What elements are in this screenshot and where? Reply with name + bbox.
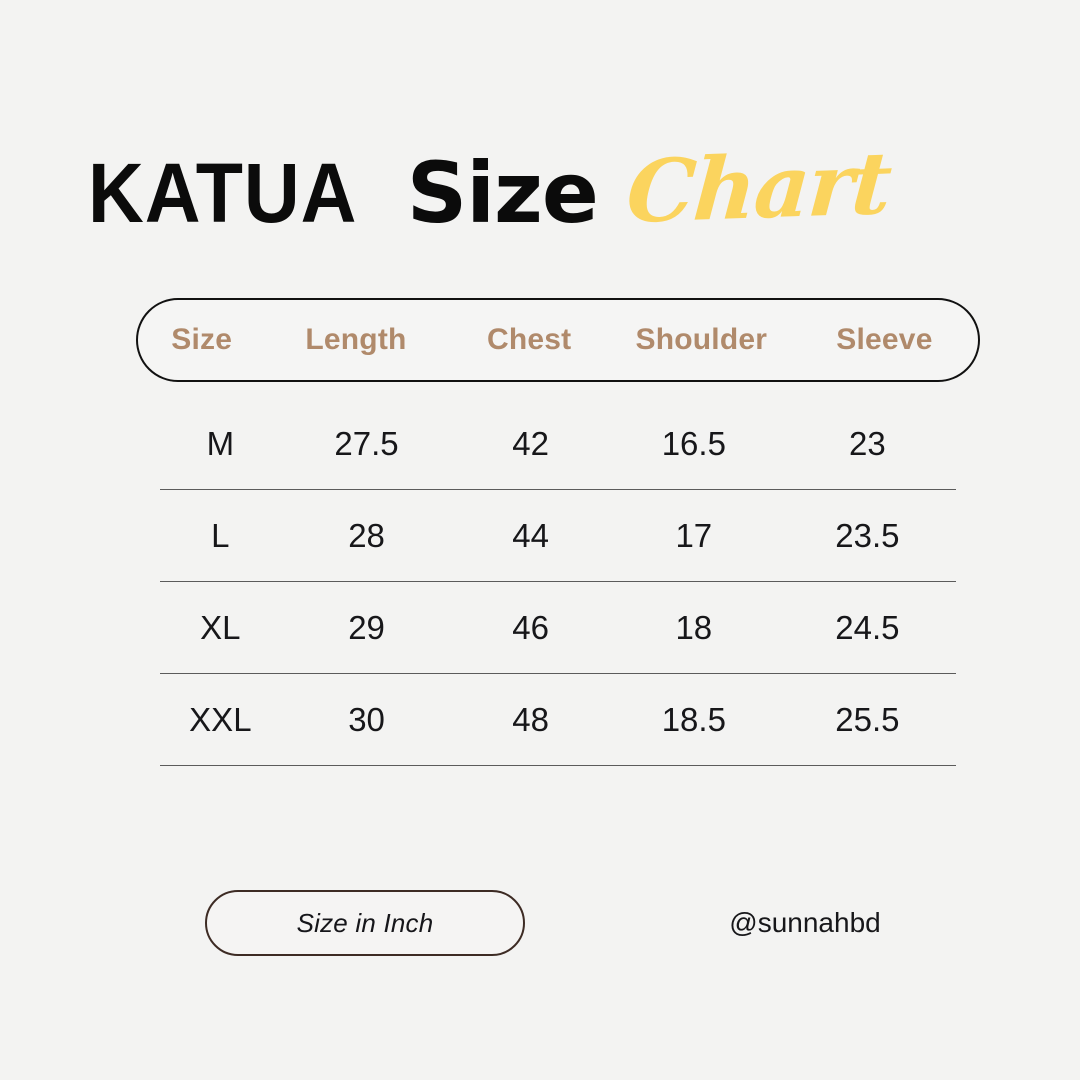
table-row: L 28 44 17 23.5 bbox=[160, 490, 956, 581]
cell-size: XL bbox=[160, 609, 281, 647]
table-row: XL 29 46 18 24.5 bbox=[160, 582, 956, 673]
page-title: KATUA Size Chart bbox=[88, 150, 988, 265]
row-divider bbox=[160, 765, 956, 766]
size-unit-badge: Size in Inch bbox=[205, 890, 525, 956]
column-header-size: Size bbox=[138, 323, 265, 357]
cell-sleeve: 23 bbox=[779, 425, 956, 463]
column-header-chest: Chest bbox=[447, 323, 612, 357]
column-header-sleeve: Sleeve bbox=[791, 323, 978, 357]
cell-size: XXL bbox=[160, 701, 281, 739]
cell-sleeve: 25.5 bbox=[779, 701, 956, 739]
cell-size: L bbox=[160, 517, 281, 555]
size-unit-label: Size in Inch bbox=[297, 908, 434, 939]
table-row: M 27.5 42 16.5 23 bbox=[160, 398, 956, 489]
size-chart-table: Size Length Chest Shoulder Sleeve M 27.5… bbox=[136, 298, 980, 766]
cell-chest: 42 bbox=[452, 425, 609, 463]
column-header-length: Length bbox=[265, 323, 446, 357]
cell-chest: 48 bbox=[452, 701, 609, 739]
cell-length: 27.5 bbox=[281, 425, 453, 463]
title-word-katua: KATUA bbox=[88, 151, 357, 235]
cell-chest: 44 bbox=[452, 517, 609, 555]
cell-shoulder: 17 bbox=[609, 517, 779, 555]
cell-length: 29 bbox=[281, 609, 453, 647]
title-word-chart: Chart bbox=[624, 141, 893, 236]
cell-sleeve: 24.5 bbox=[779, 609, 956, 647]
cell-sleeve: 23.5 bbox=[779, 517, 956, 555]
table-body: M 27.5 42 16.5 23 L 28 44 17 23.5 XL 29 … bbox=[136, 398, 980, 766]
table-row: XXL 30 48 18.5 25.5 bbox=[160, 674, 956, 765]
cell-length: 30 bbox=[281, 701, 453, 739]
brand-handle: @sunnahbd bbox=[655, 890, 955, 956]
table-header-row: Size Length Chest Shoulder Sleeve bbox=[136, 298, 980, 382]
footer: Size in Inch @sunnahbd bbox=[0, 890, 1080, 960]
cell-shoulder: 18 bbox=[609, 609, 779, 647]
title-word-size: Size bbox=[407, 151, 598, 235]
cell-shoulder: 16.5 bbox=[609, 425, 779, 463]
cell-shoulder: 18.5 bbox=[609, 701, 779, 739]
cell-size: M bbox=[160, 425, 281, 463]
cell-length: 28 bbox=[281, 517, 453, 555]
column-header-shoulder: Shoulder bbox=[612, 323, 791, 357]
cell-chest: 46 bbox=[452, 609, 609, 647]
